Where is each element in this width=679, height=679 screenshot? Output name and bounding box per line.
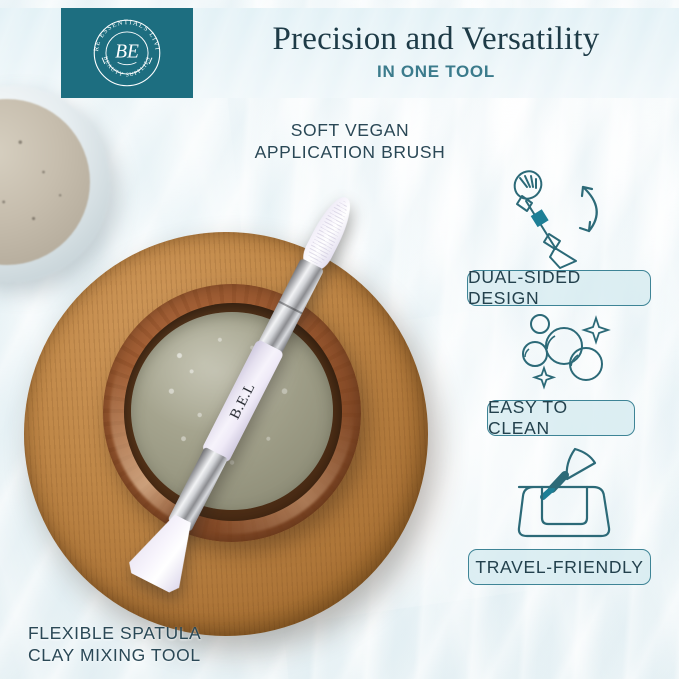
callout-soft-vegan-brush: SOFT VEGAN APPLICATION BRUSH xyxy=(250,119,450,163)
page-title: Precision and Versatility xyxy=(193,19,679,59)
brand-logo[interactable]: BARE ESSENTIALS LIVING BEAUTY SUPPLIES B… xyxy=(61,8,193,98)
callout-spatula-line2: CLAY MIXING TOOL xyxy=(28,644,288,666)
feature-label-travel-friendly[interactable]: TRAVEL-FRIENDLY xyxy=(468,549,651,585)
product-infographic: B.E.L BARE ESSENTIALS LIVING BEAUTY SUPP… xyxy=(0,0,679,679)
dual-ended-brush-rotation-icon xyxy=(500,165,640,270)
bare-essentials-living-seal-logo: BARE ESSENTIALS LIVING BEAUTY SUPPLIES B… xyxy=(88,14,166,92)
bubbles-sparkles-icon xyxy=(515,310,625,395)
feature-icon-dual-sided-design xyxy=(500,165,640,275)
svg-text:BE: BE xyxy=(115,42,139,63)
feature-icon-travel-friendly xyxy=(505,445,635,550)
feature-label-easy-to-clean[interactable]: EASY TO CLEAN xyxy=(487,400,635,436)
callout-spatula-line1: FLEXIBLE SPATULA xyxy=(28,622,288,644)
callout-brush-line1: SOFT VEGAN xyxy=(250,119,450,141)
feature-label-dual-sided-design[interactable]: DUAL-SIDED DESIGN xyxy=(467,270,651,306)
feature-icon-easy-to-clean xyxy=(515,310,625,400)
page-subtitle: IN ONE TOOL xyxy=(193,62,679,82)
clay-speckles xyxy=(0,99,90,265)
dry-clay-powder xyxy=(0,99,90,265)
callout-brush-line2: APPLICATION BRUSH xyxy=(250,141,450,163)
callout-flexible-spatula: FLEXIBLE SPATULA CLAY MIXING TOOL xyxy=(28,622,288,666)
handle-brand-text: B.E.L xyxy=(227,380,260,422)
cosmetic-bag-with-brush-icon xyxy=(505,445,635,545)
product-photo: B.E.L xyxy=(0,0,460,679)
